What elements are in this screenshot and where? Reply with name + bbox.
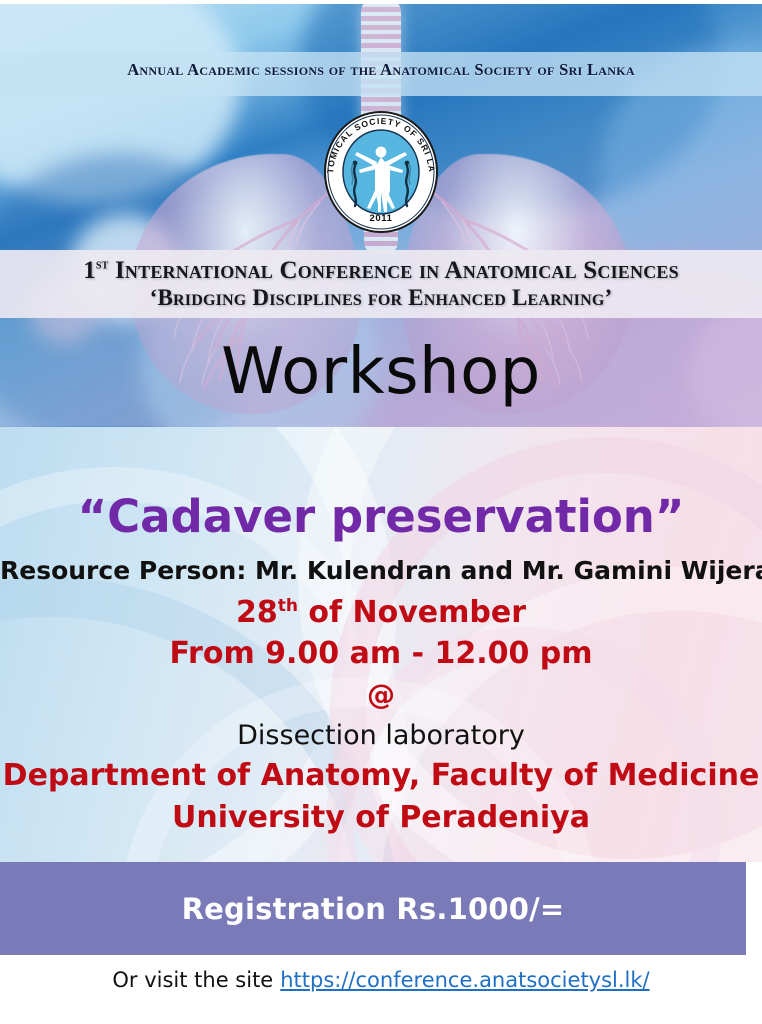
registration-fee-text: Registration Rs.1000/= [182,892,565,926]
workshop-details: “Cadaver preservation” Resource Person: … [0,492,762,836]
poster-root: Annual Academic sessions of the Anatomic… [0,0,762,1024]
date-day-suffix: th [278,596,298,616]
registration-band: Registration Rs.1000/= [0,862,746,955]
annual-sessions-banner-text: Annual Academic sessions of the Anatomic… [0,48,762,92]
conference-ordinal-suffix: st [96,258,109,273]
venue-department: Department of Anatomy, Faculty of Medici… [0,758,762,794]
workshop-title: “Cadaver preservation” [0,492,762,542]
footer-bar: Or visit the site https://conference.ana… [0,958,762,1002]
date-day-number: 28 [236,595,278,630]
workshop-heading-band: Workshop [0,318,762,426]
conference-title-line-1: 1st International Conference in Anatomic… [83,257,679,285]
workshop-date: 28th of November [0,594,762,632]
workshop-time: From 9.00 am - 12.00 pm [0,635,762,673]
conference-website-link[interactable]: https://conference.anatsocietysl.lk/ [280,968,649,992]
at-symbol-separator: @ [0,677,762,712]
date-month: of November [298,595,526,630]
conference-subtitle-line-2: ‘Bridging Disciplines for Enhanced Learn… [150,285,613,311]
venue-university: University of Peradeniya [0,800,762,836]
resource-person-line: Resource Person: Mr. Kulendran and Mr. G… [0,556,762,586]
anatomical-society-logo: ANATOMICAL SOCIETY OF SRI LANKA [319,108,443,236]
venue-room: Dissection laboratory [0,720,762,752]
poster-body: “Cadaver preservation” Resource Person: … [0,427,762,862]
footer-prefix-text: Or visit the site [112,968,273,992]
workshop-heading: Workshop [221,340,541,404]
conference-title-band: 1st International Conference in Anatomic… [0,250,762,318]
conference-ordinal-number: 1 [83,257,96,284]
svg-text:2011: 2011 [369,213,392,224]
conference-title-rest: International Conference in Anatomical S… [109,257,679,284]
